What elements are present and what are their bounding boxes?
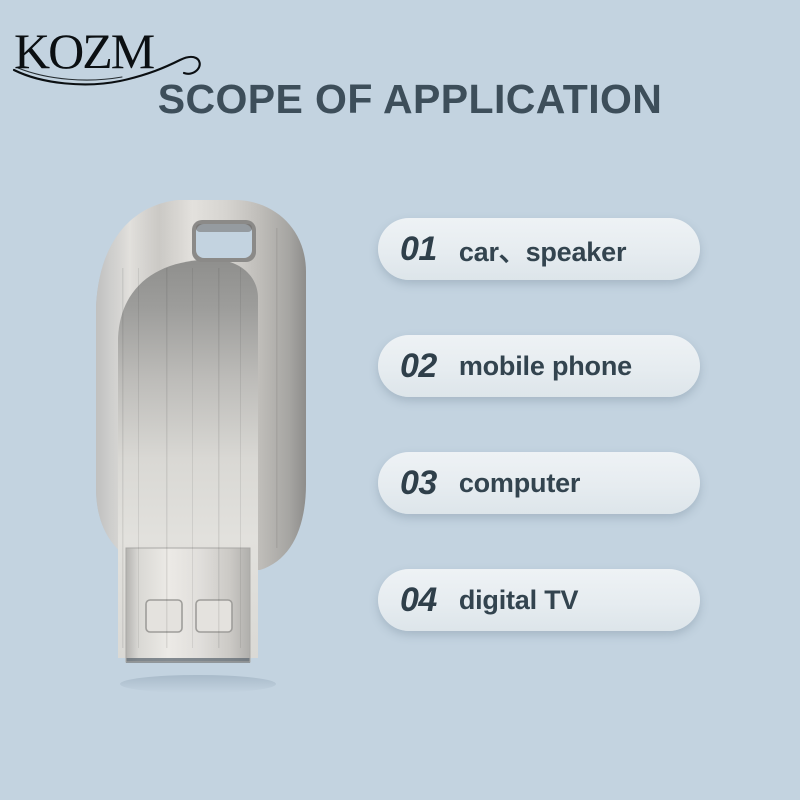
feature-label: mobile phone — [459, 351, 632, 382]
feature-number: 02 — [400, 347, 437, 386]
feature-list: 01 car、speaker 02 mobile phone 03 comput… — [378, 218, 700, 631]
page-title: SCOPE OF APPLICATION — [140, 76, 680, 123]
feature-item-04[interactable]: 04 digital TV — [378, 569, 700, 631]
feature-label: car、speaker — [459, 230, 626, 269]
feature-number: 03 — [400, 464, 437, 503]
feature-label: computer — [459, 468, 580, 499]
feature-number: 01 — [400, 230, 437, 269]
feature-item-01[interactable]: 01 car、speaker — [378, 218, 700, 280]
feature-number: 04 — [400, 581, 437, 620]
feature-label: digital TV — [459, 585, 579, 616]
feature-item-03[interactable]: 03 computer — [378, 452, 700, 514]
poster-canvas: KOZM SCOPE OF APPLICATION — [0, 0, 800, 800]
usb-flash-drive-icon — [80, 188, 330, 698]
feature-item-02[interactable]: 02 mobile phone — [378, 335, 700, 397]
